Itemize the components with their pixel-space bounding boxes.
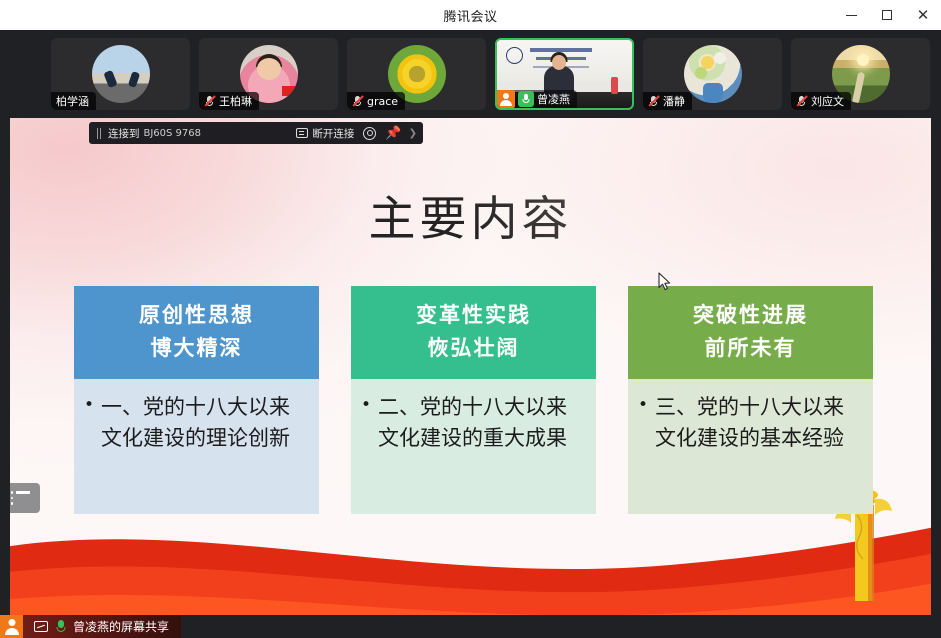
participant-name: 王柏琳 — [219, 93, 252, 109]
slide-column-1: 原创性思想 博大精深 • 一、党的十八大以来文化建设的理论创新 — [74, 286, 319, 514]
participant-filmstrip: 柏学涵 王柏琳 grace — [0, 30, 941, 118]
screen-share-label: 曾凌燕的屏幕共享 — [73, 618, 169, 635]
column-1-bullet-text: 一、党的十八大以来文化建设的理论创新 — [101, 392, 307, 496]
column-1-heading-line2: 博大精深 — [80, 332, 313, 365]
participant-name-bar: 曾凌燕 — [497, 90, 577, 108]
screen-share-icon — [34, 621, 48, 632]
shared-screen-viewport[interactable]: 连接到 BJ60S 9768 断开连接 📌 ❯ 主要内容 原创性思想 — [10, 118, 931, 615]
participant-tile-1[interactable]: 王柏琳 — [199, 38, 338, 110]
close-button[interactable]: ✕ — [905, 0, 941, 30]
microphone-muted-icon — [648, 95, 659, 107]
participant-tile-0[interactable]: 柏学涵 — [51, 38, 190, 110]
participant-tile-4[interactable]: 潘静 — [643, 38, 782, 110]
window-controls: ✕ — [833, 0, 941, 30]
column-1-heading-line1: 原创性思想 — [80, 299, 313, 332]
disconnect-button[interactable]: 断开连接 — [296, 126, 354, 141]
participant-tile-2[interactable]: grace — [347, 38, 486, 110]
participant-name-bar: 王柏琳 — [199, 92, 259, 110]
participant-name: 潘静 — [663, 93, 685, 109]
column-2-heading: 变革性实践 恢弘壮阔 — [351, 286, 596, 379]
participant-name-bar: 柏学涵 — [51, 92, 96, 110]
slide-columns: 原创性思想 博大精深 • 一、党的十八大以来文化建设的理论创新 变革性实践 恢弘… — [74, 286, 874, 514]
bullet-icon: • — [638, 392, 648, 496]
slide-column-3: 突破性进展 前所未有 • 三、党的十八大以来文化建设的基本经验 — [628, 286, 873, 514]
column-3-heading-line2: 前所未有 — [634, 332, 867, 365]
column-2-heading-line1: 变革性实践 — [357, 299, 590, 332]
close-icon: ✕ — [917, 8, 930, 23]
connection-label: 连接到 — [108, 126, 140, 141]
microphone-muted-icon — [352, 95, 363, 107]
avatar — [684, 45, 742, 103]
minimize-button[interactable] — [833, 0, 869, 30]
maximize-button[interactable] — [869, 0, 905, 30]
minimize-icon — [846, 15, 857, 16]
remote-control-toolbar[interactable]: 连接到 BJ60S 9768 断开连接 📌 ❯ — [89, 122, 423, 144]
participant-tile-3-active-speaker[interactable]: 曾凌燕 — [495, 38, 634, 110]
microphone-muted-icon — [796, 95, 807, 107]
column-3-body: • 三、党的十八大以来文化建设的基本经验 — [628, 379, 873, 514]
list-menu-icon[interactable] — [10, 483, 40, 513]
column-2-heading-line2: 恢弘壮阔 — [357, 332, 590, 365]
column-1-body: • 一、党的十八大以来文化建设的理论创新 — [74, 379, 319, 514]
participant-name: 刘应文 — [811, 93, 844, 109]
window-title: 腾讯会议 — [443, 6, 497, 25]
slide-column-2: 变革性实践 恢弘壮阔 • 二、党的十八大以来文化建设的重大成果 — [351, 286, 596, 514]
bottom-status-bar: 曾凌燕的屏幕共享 — [0, 615, 941, 638]
gear-icon[interactable] — [363, 127, 376, 140]
drag-handle-icon[interactable] — [95, 128, 103, 139]
microphone-on-icon — [54, 619, 67, 634]
microphone-muted-icon — [204, 95, 215, 107]
maximize-icon — [882, 10, 892, 20]
participant-tile-5[interactable]: 刘应文 — [791, 38, 930, 110]
participant-name: grace — [367, 95, 398, 108]
slide-title: 主要内容 — [10, 180, 931, 249]
participant-name-bar: 刘应文 — [791, 92, 851, 110]
participant-name: 曾凌燕 — [537, 91, 570, 107]
participant-name-bar: 潘静 — [643, 92, 692, 110]
screen-icon — [296, 128, 308, 138]
column-2-body: • 二、党的十八大以来文化建设的重大成果 — [351, 379, 596, 514]
pin-icon[interactable]: 📌 — [385, 127, 401, 140]
person-icon — [0, 615, 23, 638]
window-title-bar: 腾讯会议 ✕ — [0, 0, 941, 30]
avatar — [92, 45, 150, 103]
person-icon — [497, 90, 515, 108]
mouse-pointer-icon — [658, 272, 672, 292]
bullet-icon: • — [84, 392, 94, 496]
column-2-bullet-text: 二、党的十八大以来文化建设的重大成果 — [378, 392, 584, 496]
screen-share-status[interactable]: 曾凌燕的屏幕共享 — [0, 615, 181, 638]
column-3-bullet-text: 三、党的十八大以来文化建设的基本经验 — [655, 392, 861, 496]
microphone-on-icon — [518, 91, 534, 107]
column-1-heading: 原创性思想 博大精深 — [74, 286, 319, 379]
participant-name-bar: grace — [347, 92, 405, 110]
chevron-right-icon[interactable]: ❯ — [409, 128, 417, 139]
disconnect-label: 断开连接 — [312, 126, 354, 141]
device-id: BJ60S 9768 — [144, 128, 202, 139]
column-3-heading-line1: 突破性进展 — [634, 299, 867, 332]
participant-name: 柏学涵 — [56, 93, 89, 109]
bullet-icon: • — [361, 392, 371, 496]
column-3-heading: 突破性进展 前所未有 — [628, 286, 873, 379]
